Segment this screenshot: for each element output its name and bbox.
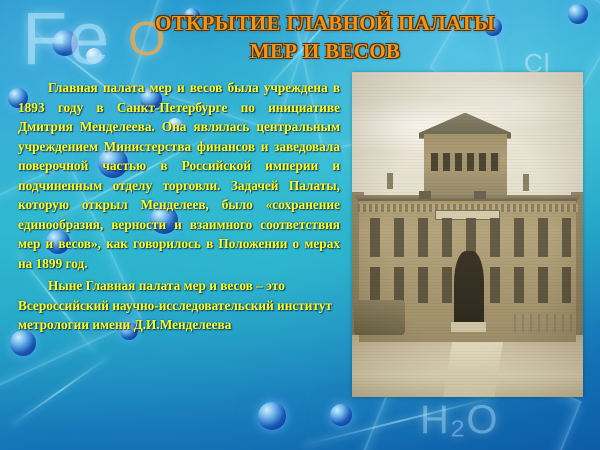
body-paragraph: Главная палата мер и весов была учрежден… xyxy=(18,78,340,273)
molecular-bond-line xyxy=(10,356,109,426)
slide-title-line-2: МЕР И ВЕСОВ xyxy=(90,38,560,66)
historical-building-photo xyxy=(352,72,583,397)
presentation-slide: Fe O Cl H₂O ОТКРЫТИЕ ГЛАВНОЙ ПАЛАТЫ МЕР … xyxy=(0,0,600,450)
atom-sphere-icon xyxy=(568,4,588,24)
atom-sphere-icon xyxy=(52,30,78,56)
atom-sphere-icon xyxy=(330,404,352,426)
photo-sepia-grain xyxy=(352,72,583,397)
slide-body-text: Главная палата мер и весов была учрежден… xyxy=(18,78,340,354)
slide-title-line-1: ОТКРЫТИЕ ГЛАВНОЙ ПАЛАТЫ xyxy=(90,10,560,38)
body-paragraph: Ныне Главная палата мер и весов – это Вс… xyxy=(18,276,340,354)
molecular-bond-line xyxy=(303,396,498,446)
slide-title: ОТКРЫТИЕ ГЛАВНОЙ ПАЛАТЫ МЕР И ВЕСОВ xyxy=(90,10,560,65)
atom-sphere-icon xyxy=(258,402,286,430)
chemical-formula-water: H₂O xyxy=(420,398,499,443)
